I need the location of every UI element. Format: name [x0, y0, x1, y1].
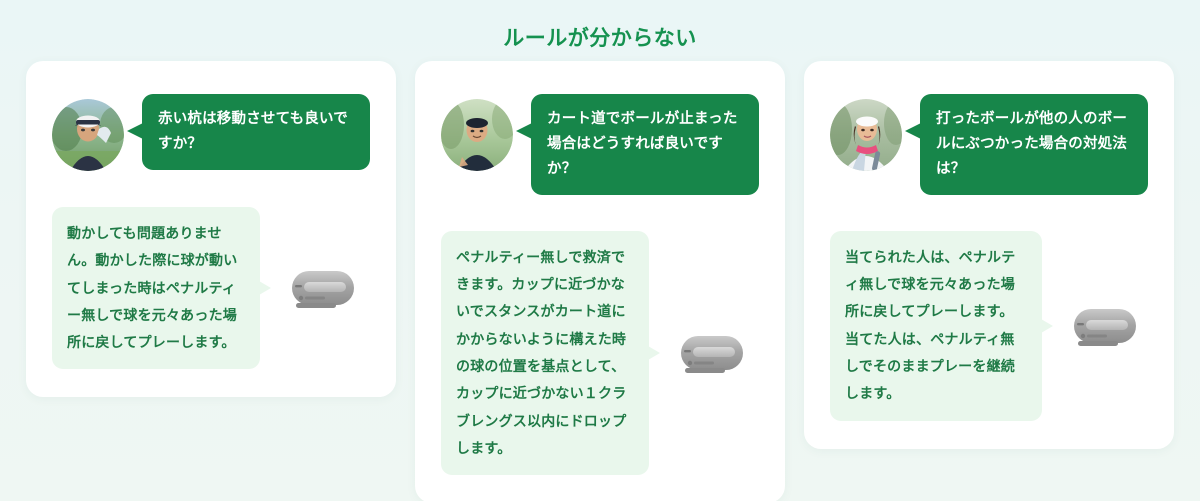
avatar [52, 99, 124, 171]
answer-row: 当てられた人は、ペナルティ無しで球を元々あった場所に戻してプレーします。当てた人… [830, 231, 1148, 421]
qa-card: 打ったボールが他の人のボールにぶつかった場合の対処法は？ 当てられた人は、ペナル… [804, 61, 1174, 449]
bubble-tail-icon [1041, 319, 1053, 333]
bubble-tail-icon [648, 346, 660, 360]
question-bubble-wrap: 打ったボールが他の人のボールにぶつかった場合の対処法は？ [920, 94, 1148, 195]
qa-card: カート道でボールが止まった場合はどうすれば良いですか？ ペナルティー無しで救済で… [415, 61, 785, 501]
bubble-tail-icon [259, 281, 271, 295]
birdie-talk-device-icon [1066, 299, 1144, 353]
qa-card: 赤い杭は移動させても良いですか？ 動かしても問題ありません。動かした際に球が動い… [26, 61, 396, 397]
answer-text: 当てられた人は、ペナルティ無しで球を元々あった場所に戻してプレーします。当てた人… [830, 231, 1042, 421]
question-bubble-wrap: 赤い杭は移動させても良いですか？ [142, 94, 370, 170]
avatar [830, 99, 902, 171]
answer-text: ペナルティー無しで救済できます。カップに近づかないでスタンスがカート道にかからな… [441, 231, 649, 475]
answer-bubble-wrap: ペナルティー無しで救済できます。カップに近づかないでスタンスがカート道にかからな… [441, 231, 649, 475]
question-text: 赤い杭は移動させても良いですか？ [142, 94, 370, 170]
bubble-tail-icon [127, 123, 143, 139]
bubble-tail-icon [516, 123, 532, 139]
answer-row: ペナルティー無しで救済できます。カップに近づかないでスタンスがカート道にかからな… [441, 231, 759, 475]
question-row: カート道でボールが止まった場合はどうすれば良いですか？ [441, 94, 759, 195]
question-row: 赤い杭は移動させても良いですか？ [52, 94, 370, 171]
avatar [441, 99, 513, 171]
answer-bubble-wrap: 当てられた人は、ペナルティ無しで球を元々あった場所に戻してプレーします。当てた人… [830, 231, 1042, 421]
qa-card-list: 赤い杭は移動させても良いですか？ 動かしても問題ありません。動かした際に球が動い… [26, 61, 1174, 501]
answer-row: 動かしても問題ありません。動かした際に球が動いてしまった時はペナルティー無しで球… [52, 207, 370, 369]
question-row: 打ったボールが他の人のボールにぶつかった場合の対処法は？ [830, 94, 1148, 195]
birdie-talk-device-icon [284, 261, 362, 315]
page-title: ルールが分からない [0, 22, 1200, 52]
bubble-tail-icon [905, 123, 921, 139]
question-text: カート道でボールが止まった場合はどうすれば良いですか？ [531, 94, 759, 195]
answer-text: 動かしても問題ありません。動かした際に球が動いてしまった時はペナルティー無しで球… [52, 207, 260, 369]
birdie-talk-device-icon [673, 326, 751, 380]
question-text: 打ったボールが他の人のボールにぶつかった場合の対処法は？ [920, 94, 1148, 195]
answer-bubble-wrap: 動かしても問題ありません。動かした際に球が動いてしまった時はペナルティー無しで球… [52, 207, 260, 369]
question-bubble-wrap: カート道でボールが止まった場合はどうすれば良いですか？ [531, 94, 759, 195]
